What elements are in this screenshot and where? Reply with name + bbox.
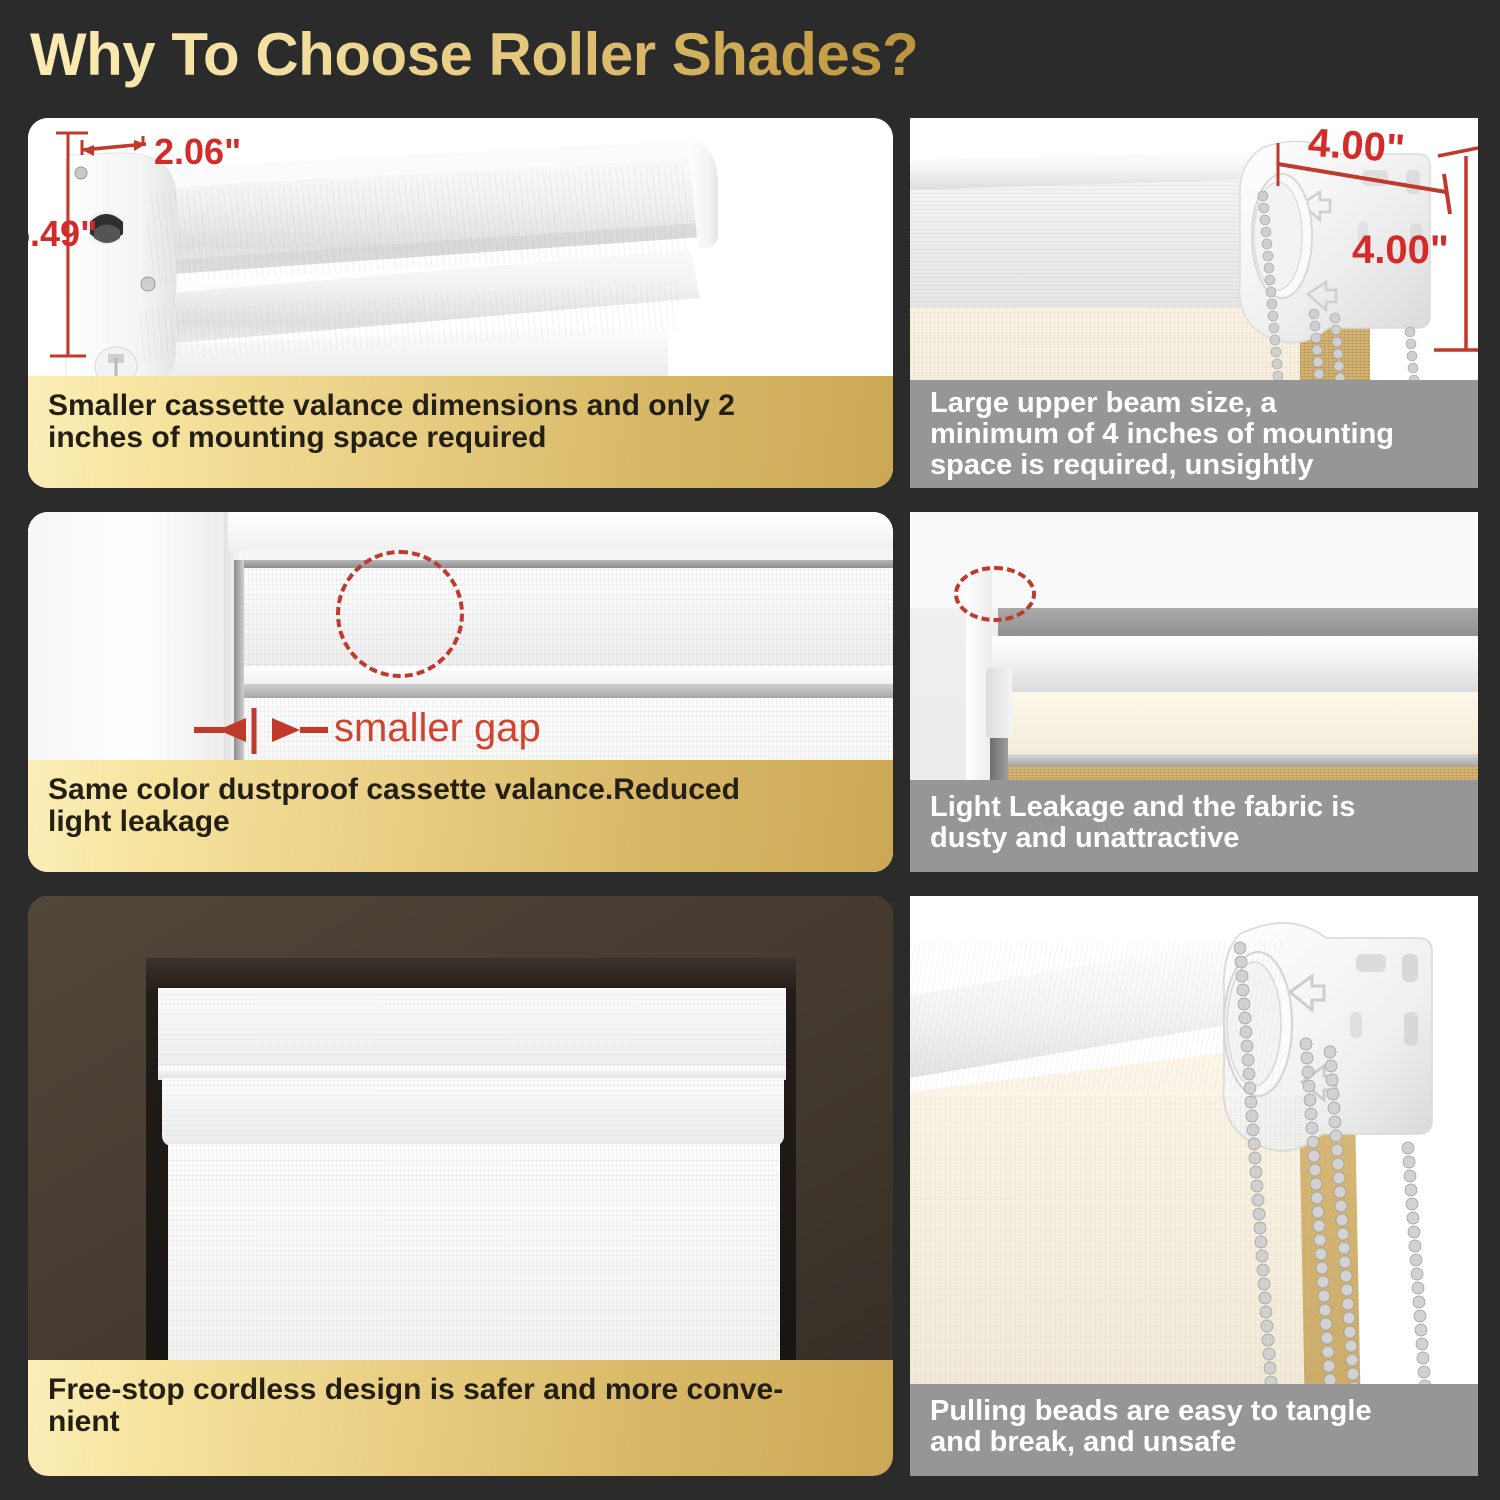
panel-5: Free-stop cordless design is safer and m…: [28, 896, 893, 1476]
caption-line: space is required, unsightly: [930, 450, 1460, 481]
caption-line: light leakage: [48, 806, 875, 838]
panel-3-caption: Same color dustproof cassette valance.Re…: [28, 760, 893, 872]
caption-line: Smaller cassette valance dimensions and …: [48, 390, 875, 422]
page-title: Why To Choose Roller Shades?: [30, 20, 918, 89]
panel-1-caption: Smaller cassette valance dimensions and …: [28, 376, 893, 488]
infographic-board: Why To Choose Roller Shades?: [0, 0, 1500, 1500]
panel-6-caption: Pulling beads are easy to tangle and bre…: [910, 1384, 1478, 1476]
panel-2-height-label: 4.00": [1352, 228, 1449, 273]
caption-line: Large upper beam size, a: [930, 388, 1460, 419]
caption-line: minimum of 4 inches of mounting: [930, 419, 1460, 450]
panel-3-gap-label: smaller gap: [334, 706, 541, 751]
panel-1: 2.06" 5.49" Smaller cassette valance dim…: [28, 118, 893, 488]
caption-line: inches of mounting space required: [48, 422, 875, 454]
panel-1-height-label: 5.49": [28, 213, 97, 255]
panel-2-width-label: 4.00": [1307, 121, 1407, 173]
panel-2-caption: Large upper beam size, a minimum of 4 in…: [910, 380, 1478, 488]
panel-6: Pulling beads are easy to tangle and bre…: [910, 896, 1478, 1476]
panel-3: smaller gap Same color dustproof cassett…: [28, 512, 893, 872]
caption-line: Free-stop cordless design is safer and m…: [48, 1374, 875, 1406]
caption-line: and break, and unsafe: [930, 1427, 1460, 1458]
caption-line: nient: [48, 1406, 875, 1438]
caption-line: dusty and unattractive: [930, 823, 1460, 854]
caption-line: Same color dustproof cassette valance.Re…: [48, 774, 875, 806]
panel-5-caption: Free-stop cordless design is safer and m…: [28, 1360, 893, 1476]
caption-line: Pulling beads are easy to tangle: [930, 1396, 1460, 1427]
panel-4: Large gap Light Leakage and the fabric i…: [910, 512, 1478, 872]
panel-1-width-label: 2.06": [154, 131, 241, 173]
caption-line: Light Leakage and the fabric is: [930, 792, 1460, 823]
panel-4-caption: Light Leakage and the fabric is dusty an…: [910, 780, 1478, 872]
panel-2: 4.00" 4.00" Large upper beam size, a min…: [910, 118, 1478, 488]
